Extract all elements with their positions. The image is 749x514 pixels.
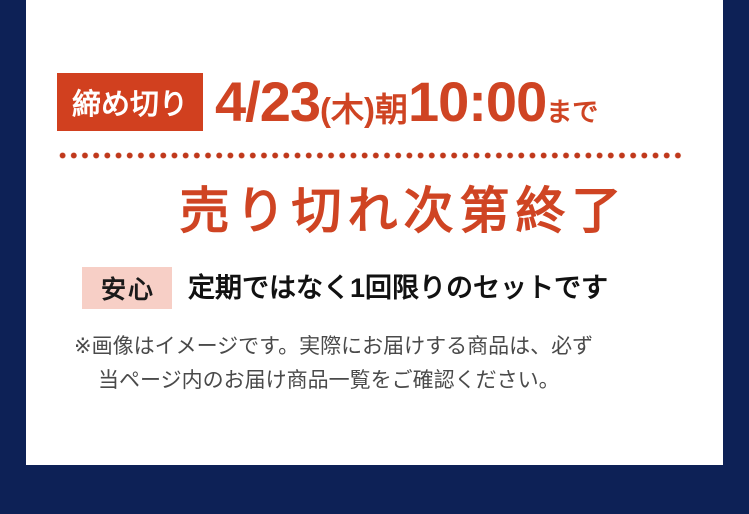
promo-banner: 締め切り 4/23 (木) 朝 10:00 まで 売り切れ次第終了 安心 定期で… (0, 0, 749, 514)
deadline-badge: 締め切り (57, 73, 203, 131)
deadline-row: 締め切り 4/23 (木) 朝 10:00 まで (57, 68, 697, 136)
deadline-weekday: (木) (320, 93, 375, 126)
assurance-text: 定期ではなく1回限りのセットです (188, 275, 608, 302)
disclaimer-line-2: 当ページ内のお届け商品一覧をご確認ください。 (74, 364, 714, 398)
white-content-panel: 締め切り 4/23 (木) 朝 10:00 まで 売り切れ次第終了 安心 定期で… (26, 0, 723, 465)
deadline-period: 朝 (375, 93, 408, 126)
disclaimer: ※画像はイメージです。実際にお届けする商品は、必ず 当ページ内のお届け商品一覧を… (74, 330, 714, 398)
assurance-row: 安心 定期ではなく1回限りのセットです (82, 266, 712, 310)
headline-sold-out-notice: 売り切れ次第終了 (52, 182, 749, 241)
dotted-divider (57, 152, 683, 159)
deadline-date: 4/23 (215, 74, 320, 130)
deadline-suffix: まで (546, 99, 598, 125)
deadline-time: 10:00 (408, 74, 546, 130)
assurance-badge: 安心 (82, 267, 172, 309)
deadline-datetime: 4/23 (木) 朝 10:00 まで (215, 74, 598, 130)
disclaimer-line-1: ※画像はイメージです。実際にお届けする商品は、必ず (74, 330, 714, 364)
